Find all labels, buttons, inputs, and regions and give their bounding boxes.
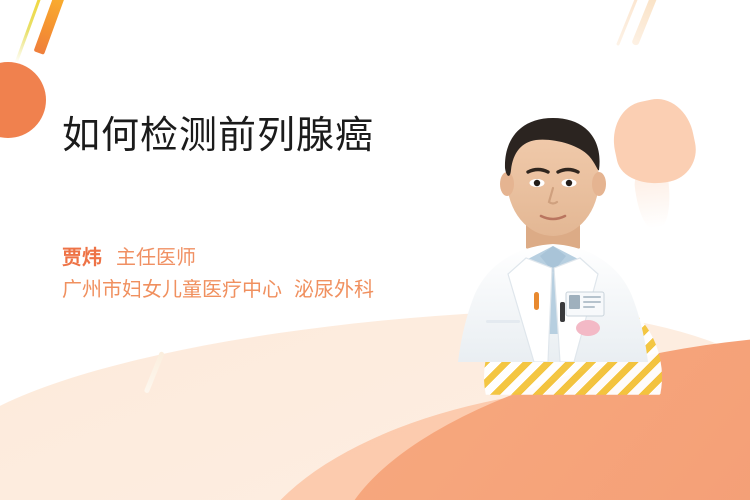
circle-left-edge-shape [0,62,46,138]
stripe-top-right-a-icon [616,0,643,46]
department: 泌尿外科 [294,279,374,301]
cover-text-block: 如何检测前列腺癌 贾炜主任医师 广州市妇女儿童医疗中心泌尿外科 [62,116,462,306]
page-title: 如何检测前列腺癌 [62,116,462,158]
doctor-rank: 主任医师 [116,247,196,269]
doctor-portrait-illustration [448,96,658,362]
doctor-portrait-photo [448,96,658,362]
credit-line-doctor: 贾炜主任医师 [62,242,462,274]
stripe-top-left-thick-icon [34,0,73,55]
stripe-top-right-b-icon [631,0,664,46]
stripe-top-left-thin-icon [15,0,47,63]
wave-salmon-soft-shape [226,379,680,500]
doctor-name: 贾炜 [62,247,102,269]
video-cover: 如何检测前列腺癌 贾炜主任医师 广州市妇女儿童医疗中心泌尿外科 [0,0,750,500]
credits-block: 贾炜主任医师 广州市妇女儿童医疗中心泌尿外科 [62,242,462,306]
credit-line-affiliation: 广州市妇女儿童医疗中心泌尿外科 [62,274,462,306]
affiliation: 广州市妇女儿童医疗中心 [62,279,282,301]
stripe-bottom-left-icon [144,351,165,394]
